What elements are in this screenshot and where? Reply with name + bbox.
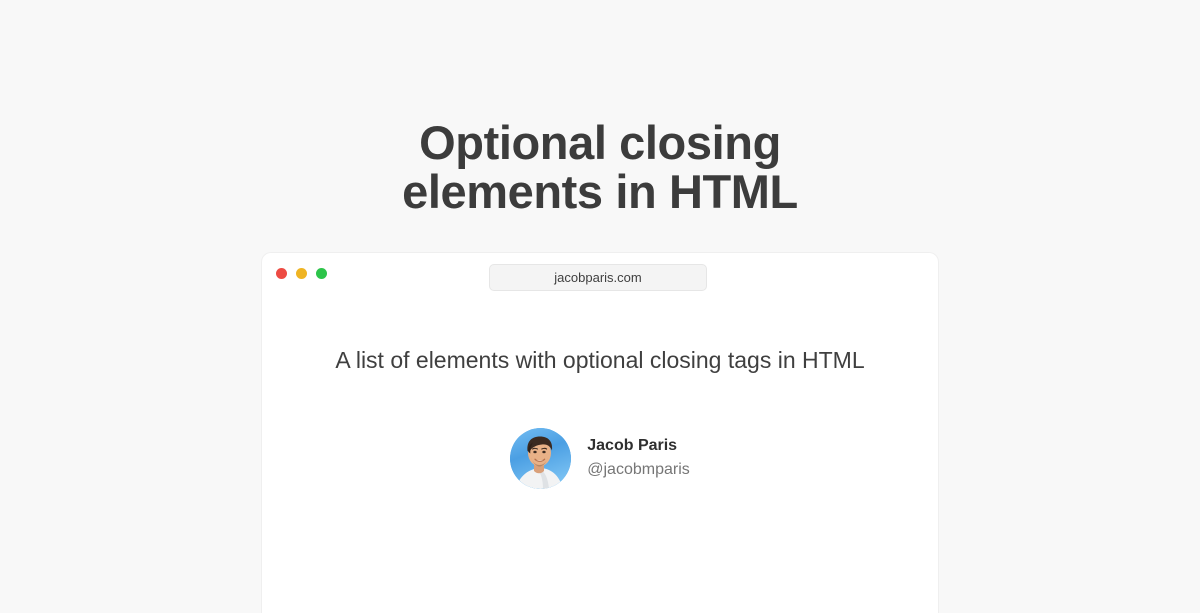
avatar <box>510 428 571 489</box>
author-handle[interactable]: @jacobmparis <box>587 459 690 481</box>
browser-window-mockup: jacobparis.com A list of elements with o… <box>262 253 938 613</box>
address-bar[interactable]: jacobparis.com <box>489 264 707 291</box>
address-bar-url: jacobparis.com <box>554 270 641 285</box>
page-root: Optional closing elements in HTML jacobp… <box>0 0 1200 600</box>
author-details: Jacob Paris @jacobmparis <box>587 436 690 481</box>
close-window-button[interactable] <box>276 268 287 279</box>
author-name: Jacob Paris <box>587 436 690 456</box>
maximize-window-button[interactable] <box>316 268 327 279</box>
traffic-lights <box>276 268 327 279</box>
article-subtitle: A list of elements with optional closing… <box>310 344 890 376</box>
browser-viewport: A list of elements with optional closing… <box>262 344 938 489</box>
minimize-window-button[interactable] <box>296 268 307 279</box>
author-block: Jacob Paris @jacobmparis <box>310 428 890 489</box>
browser-chrome: jacobparis.com <box>262 253 938 301</box>
page-title: Optional closing elements in HTML <box>0 118 1200 216</box>
